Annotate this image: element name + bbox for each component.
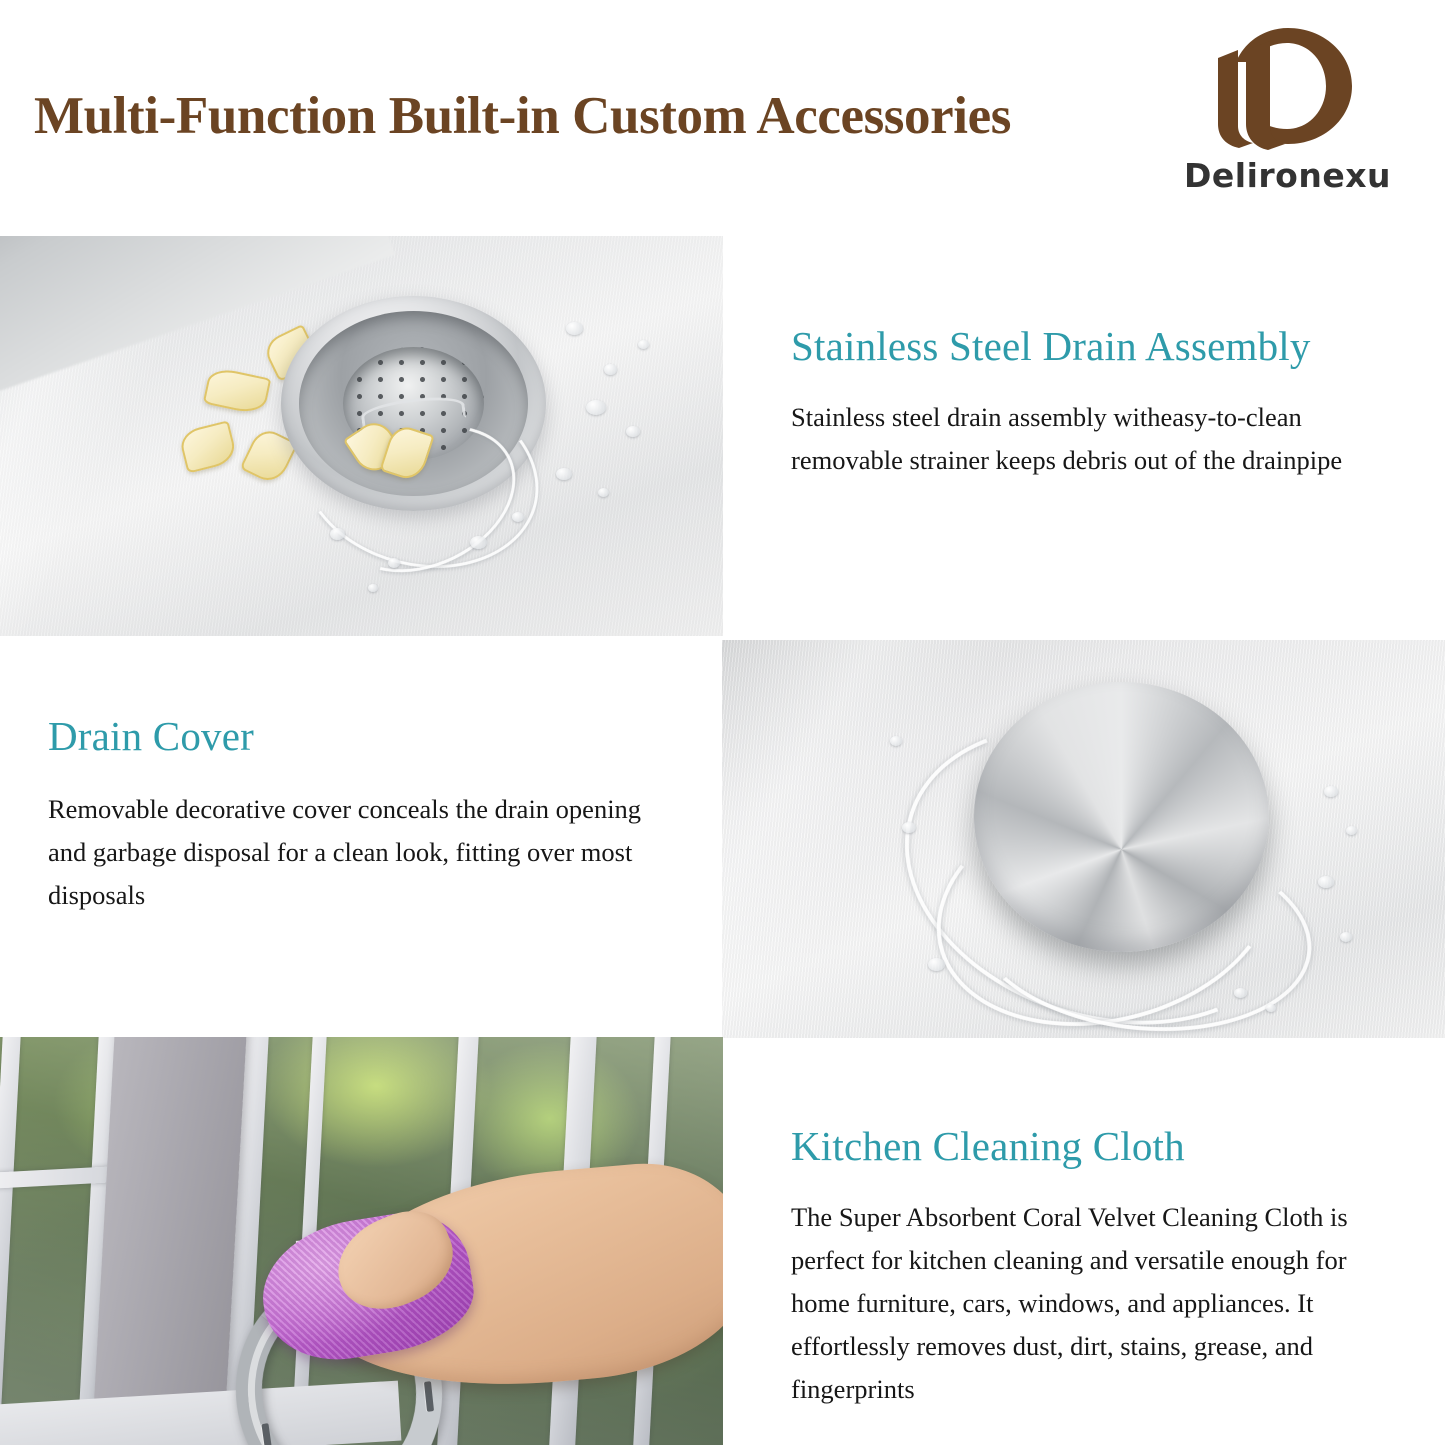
window-panel: [93, 1037, 247, 1419]
water-droplet: [388, 558, 400, 568]
water-droplet: [1340, 932, 1352, 942]
feature-cleaning-cloth: Kitchen Cleaning Cloth The Super Absorbe…: [791, 1122, 1416, 1411]
water-droplet: [1346, 826, 1357, 835]
water-droplet: [586, 400, 606, 415]
water-droplet: [902, 822, 916, 833]
water-droplet: [330, 528, 345, 540]
feature-heading: Kitchen Cleaning Cloth: [791, 1122, 1416, 1170]
page-title: Multi-Function Built-in Custom Accessori…: [34, 86, 1011, 146]
drain-assembly-image: [0, 236, 723, 636]
water-droplet: [470, 536, 487, 549]
cleaning-cloth-image: [0, 1037, 723, 1445]
brand-d-monogram-icon: [1192, 22, 1384, 150]
water-droplet: [1318, 876, 1334, 888]
feature-body: Removable decorative cover conceals the …: [48, 788, 648, 917]
water-droplet: [512, 512, 524, 522]
water-droplet: [556, 468, 572, 480]
feature-drain-assembly: Stainless Steel Drain Assembly Stainless…: [791, 322, 1406, 482]
water-droplet: [638, 340, 649, 349]
water-droplet: [598, 488, 609, 497]
feature-drain-cover: Drain Cover Removable decorative cover c…: [48, 712, 673, 917]
water-droplet: [626, 426, 640, 437]
brand-name: Delironexu: [1184, 156, 1391, 195]
water-droplet: [604, 364, 617, 375]
water-droplet: [890, 736, 902, 746]
water-droplet: [368, 584, 378, 592]
water-droplet: [1324, 786, 1338, 797]
drain-cover-image: [722, 640, 1445, 1038]
water-droplet: [928, 958, 945, 971]
water-droplet: [1234, 988, 1247, 998]
feature-body: The Super Absorbent Coral Velvet Cleanin…: [791, 1196, 1411, 1411]
feature-heading: Drain Cover: [48, 712, 673, 760]
brand-logo: Delironexu: [1160, 22, 1415, 217]
page-header: Multi-Function Built-in Custom Accessori…: [0, 0, 1445, 236]
feature-heading: Stainless Steel Drain Assembly: [791, 322, 1406, 370]
feature-body: Stainless steel drain assembly witheasy-…: [791, 396, 1391, 482]
water-droplet: [1266, 1004, 1276, 1012]
water-droplet: [566, 322, 583, 335]
